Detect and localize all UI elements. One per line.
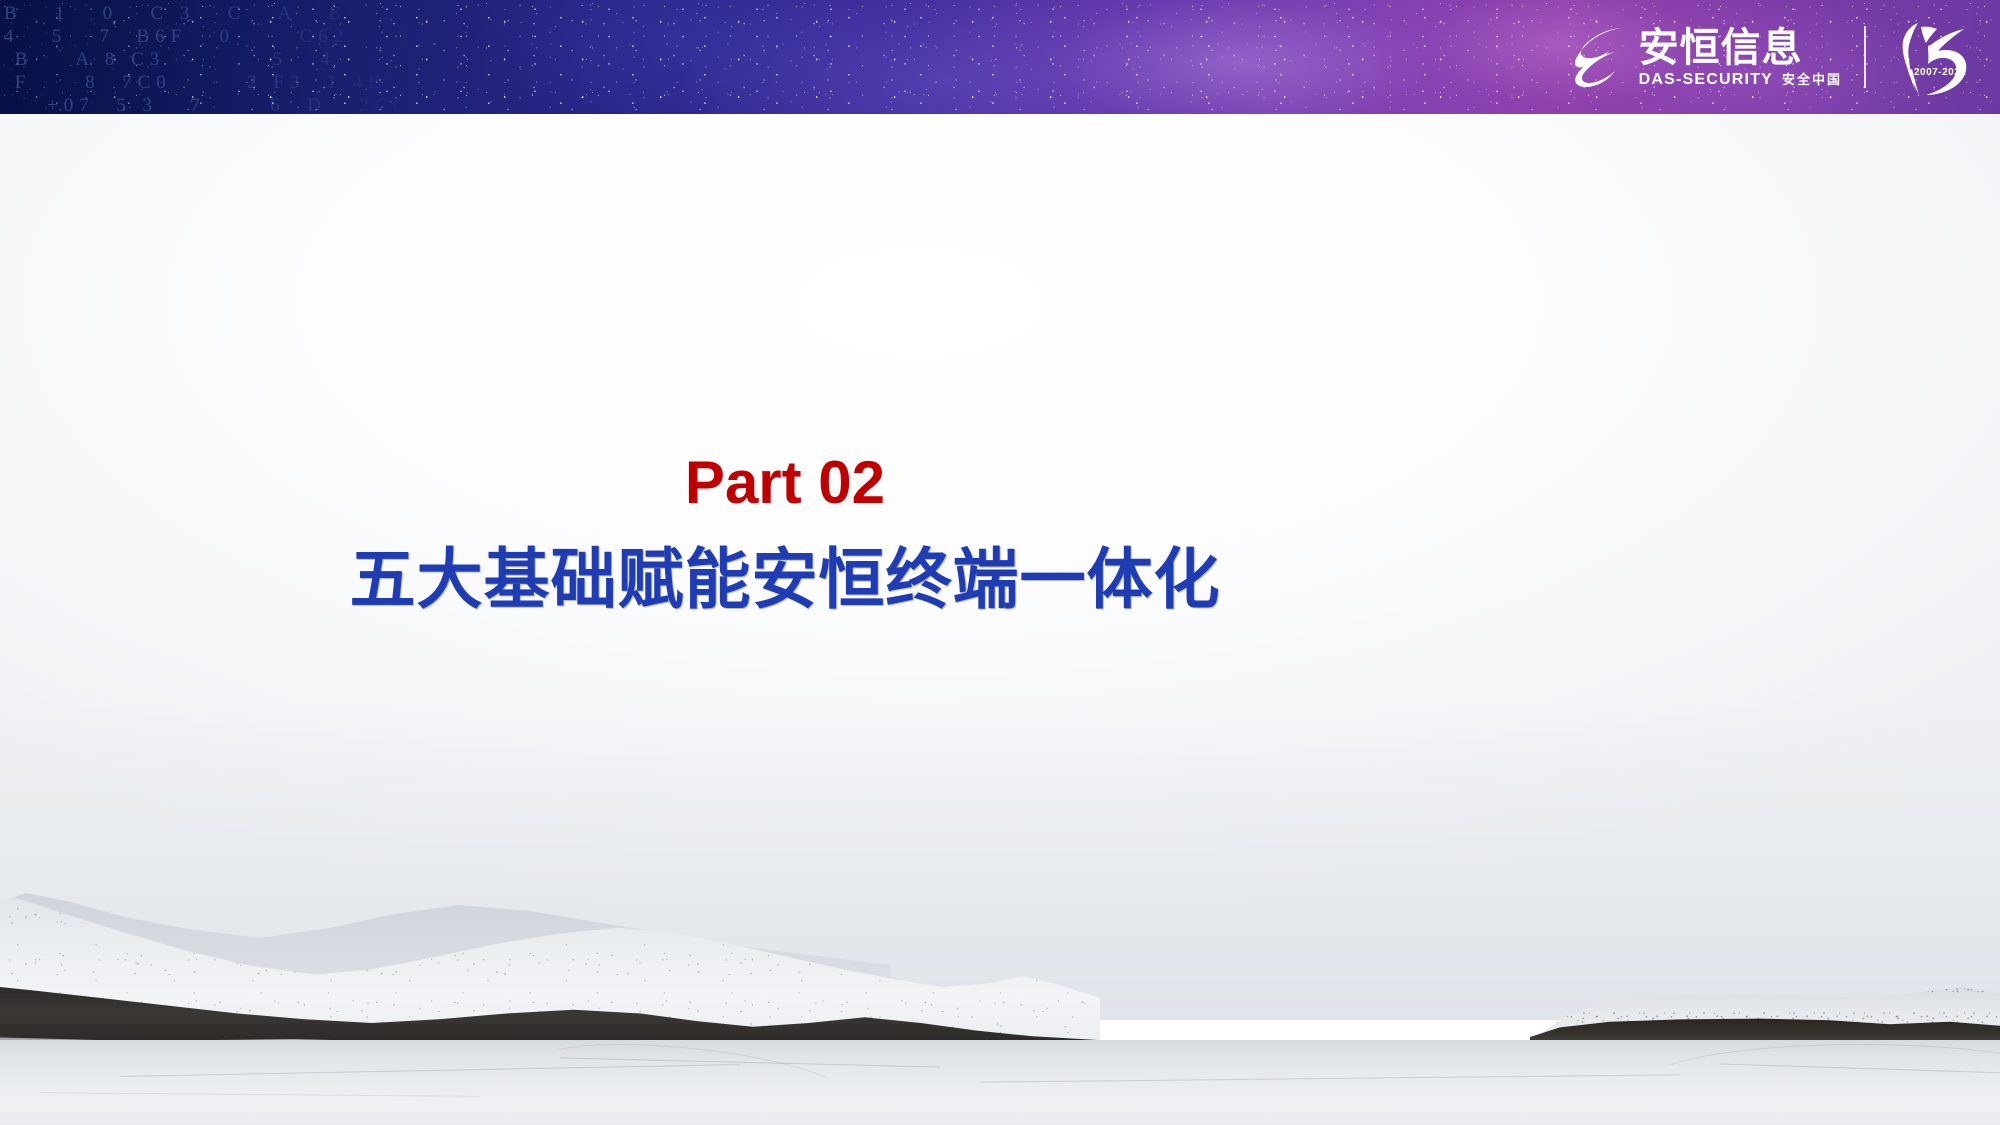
brand-subline: DAS-SECURITY 安全中国 bbox=[1639, 71, 1842, 88]
brand-divider bbox=[1864, 26, 1866, 88]
header-banner: B 1 0 C 3 C A E 4 5 7 B6F 0 C62 9 B A 8 … bbox=[0, 0, 2000, 114]
section-subtitle: 五大基础赋能安恒终端一体化 bbox=[0, 540, 1570, 618]
part-label: Part 02 bbox=[0, 448, 1570, 518]
brand-wordmark: 安恒信息 DAS-SECURITY 安全中国 bbox=[1639, 27, 1842, 88]
anniversary-logo: 2007-2022 bbox=[1888, 17, 1984, 97]
brand-lockup: 安恒信息 DAS-SECURITY 安全中国 2007-2022 bbox=[1571, 0, 1984, 114]
title-block: Part 02 五大基础赋能安恒终端一体化 bbox=[0, 448, 1570, 618]
hex-code-overlay: B 1 0 C 3 C A E 4 5 7 B6F 0 C62 9 B A 8 … bbox=[0, 0, 430, 114]
anniversary-years: 2007-2022 bbox=[1914, 67, 1966, 78]
company-logo: 安恒信息 DAS-SECURITY 安全中国 bbox=[1571, 26, 1842, 88]
brand-slogan: 安全中国 bbox=[1782, 73, 1842, 87]
das-security-swoosh-icon bbox=[1571, 26, 1627, 88]
presentation-slide: B 1 0 C 3 C A E 4 5 7 B6F 0 C62 9 B A 8 … bbox=[0, 0, 2000, 1125]
15-anniversary-icon bbox=[1888, 17, 1984, 97]
brand-name-cn: 安恒信息 bbox=[1639, 27, 1842, 69]
brand-name-latin: DAS-SECURITY bbox=[1639, 71, 1773, 88]
